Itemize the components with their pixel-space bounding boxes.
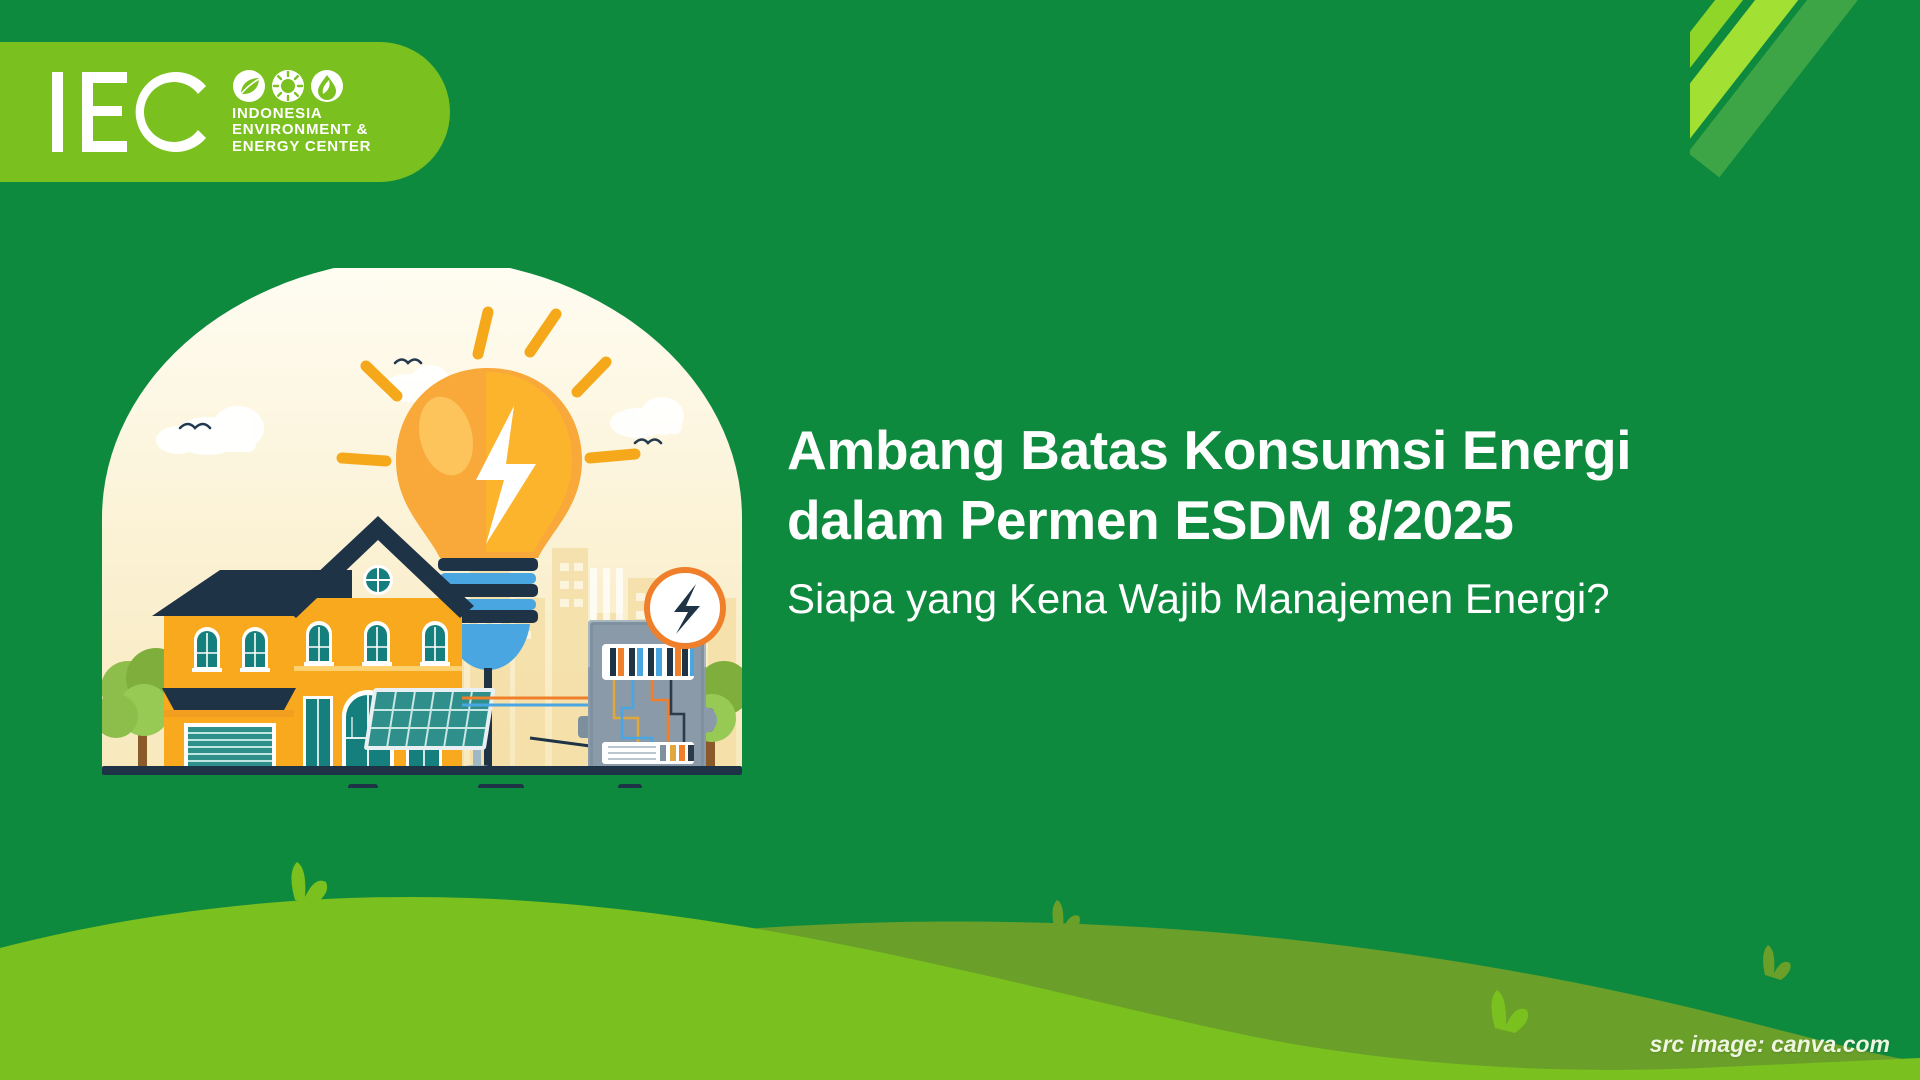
ground-dashes (348, 784, 642, 788)
window-group-upper-main (304, 621, 450, 666)
iec-wordmark-icon (48, 62, 218, 162)
grass-tuft-front-1 (291, 862, 327, 905)
corner-stripe-decoration (1690, 0, 1920, 200)
hill-decoration (0, 800, 1920, 1080)
brand-name-line-3: ENERGY CENTER (232, 139, 371, 155)
grass-tuft-back-1 (1052, 900, 1080, 934)
corner-stripe-1 (1690, 0, 1779, 119)
electric-hazard-sign-icon (647, 570, 723, 646)
slide-canvas: INDONESIA ENVIRONMENT & ENERGY CENTER (0, 0, 1920, 1080)
page-title-line-2: dalam Permen ESDM 8/2025 (787, 485, 1847, 555)
page-title-line-1: Ambang Batas Konsumsi Energi (787, 415, 1847, 485)
brand-name-line-1: INDONESIA (232, 106, 371, 122)
corner-stripe-2 (1690, 0, 1829, 158)
corner-stripe-3 (1690, 0, 1886, 177)
page-subtitle: Siapa yang Kena Wajib Manajemen Energi? (787, 572, 1847, 627)
window-ground-left (303, 696, 333, 768)
sun-icon (271, 69, 305, 103)
ground-line (102, 766, 742, 775)
water-drop-icon (310, 69, 344, 103)
headline-block: Ambang Batas Konsumsi Energi dalam Perme… (787, 415, 1847, 626)
garage-canopy (162, 688, 296, 710)
image-credit: src image: canva.com (1650, 1031, 1890, 1058)
energy-efficient-house-illustration (90, 268, 755, 788)
leaf-icon (232, 69, 266, 103)
brand-name-line-2: ENVIRONMENT & (232, 122, 371, 138)
bulb-base-ring-1 (438, 558, 538, 571)
brand-icon-group (232, 69, 371, 103)
bulb-base-ring-2 (440, 573, 536, 584)
grass-tuft-back-2 (1763, 945, 1791, 980)
brand-logo-bar[interactable]: INDONESIA ENVIRONMENT & ENERGY CENTER (0, 42, 450, 182)
